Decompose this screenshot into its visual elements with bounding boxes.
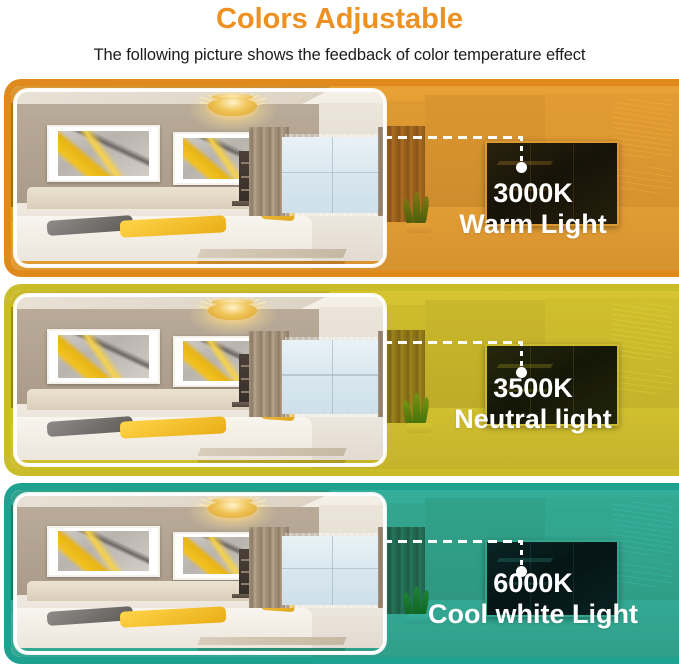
light-name: Cool white Light	[383, 599, 679, 630]
color-temperature-infographic: Colors Adjustable The following picture …	[0, 0, 679, 671]
panel-caption: 3000K Warm Light	[383, 178, 679, 241]
kelvin-value: 3000K	[383, 178, 679, 209]
reference-photo-inset	[14, 89, 386, 267]
header: Colors Adjustable The following picture …	[0, 0, 679, 75]
panel-inner: 3000K Warm Light	[11, 86, 679, 270]
panel-caption: 3500K Neutral light	[383, 373, 679, 436]
room-scene-neutral	[14, 493, 386, 648]
reference-photo-inset	[14, 493, 386, 654]
kelvin-value: 6000K	[383, 568, 679, 599]
panel-inner: 6000K Cool white Light	[11, 490, 679, 657]
color-temperature-panel-warm[interactable]: 3000K Warm Light	[4, 79, 679, 277]
color-temperature-panel-cool[interactable]: 6000K Cool white Light	[4, 483, 679, 664]
panel-inner: 3500K Neutral light	[11, 291, 679, 469]
page-title: Colors Adjustable	[0, 0, 679, 34]
reference-photo-inset	[14, 294, 386, 466]
color-temperature-panel-neutral[interactable]: 3500K Neutral light	[4, 284, 679, 476]
panel-caption: 6000K Cool white Light	[383, 568, 679, 631]
room-scene-neutral	[14, 294, 386, 460]
kelvin-value: 3500K	[383, 373, 679, 404]
light-name: Neutral light	[383, 404, 679, 435]
room-scene-neutral	[14, 89, 386, 261]
light-name: Warm Light	[383, 209, 679, 240]
page-subtitle: The following picture shows the feedback…	[0, 34, 679, 65]
